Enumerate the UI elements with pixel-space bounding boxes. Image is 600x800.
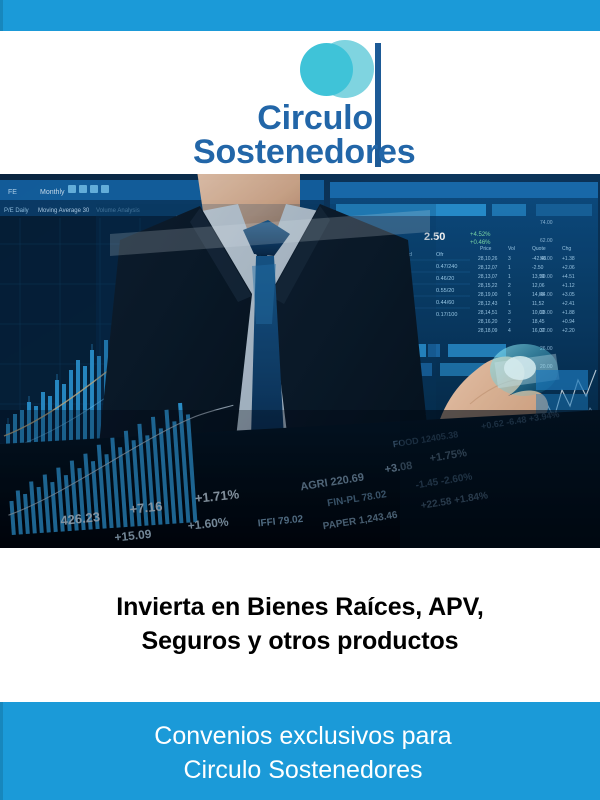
headline-zone: Invierta en Bienes Raíces, APV, Seguros … bbox=[0, 548, 600, 702]
headline-line-2: Seguros y otros productos bbox=[0, 624, 600, 658]
banner-message: Convenios exclusivos para Circulo Sosten… bbox=[3, 719, 600, 787]
banner-line-1: Convenios exclusivos para bbox=[3, 719, 600, 753]
logo-word-circulo: Circulo bbox=[193, 101, 373, 135]
hero-illustration: FE Monthly P/E Daily Moving Average 30 V… bbox=[0, 174, 600, 548]
circle-teal-icon bbox=[300, 43, 353, 96]
hero-photo: FE Monthly P/E Daily Moving Average 30 V… bbox=[0, 174, 600, 548]
logo-word-sostenedores: Sostenedores bbox=[193, 135, 373, 169]
logo-zone: Circulo Sostenedores bbox=[0, 31, 600, 174]
logo-circles-mark bbox=[294, 40, 382, 98]
headline-line-1: Invierta en Bienes Raíces, APV, bbox=[0, 590, 600, 624]
page-title: Invierta en Bienes Raíces, APV, Seguros … bbox=[0, 590, 600, 658]
top-accent-bar bbox=[0, 0, 600, 31]
brand-logo: Circulo Sostenedores bbox=[193, 35, 388, 171]
banner-line-2: Circulo Sostenedores bbox=[3, 753, 600, 787]
bottom-banner: Convenios exclusivos para Circulo Sosten… bbox=[0, 702, 600, 800]
